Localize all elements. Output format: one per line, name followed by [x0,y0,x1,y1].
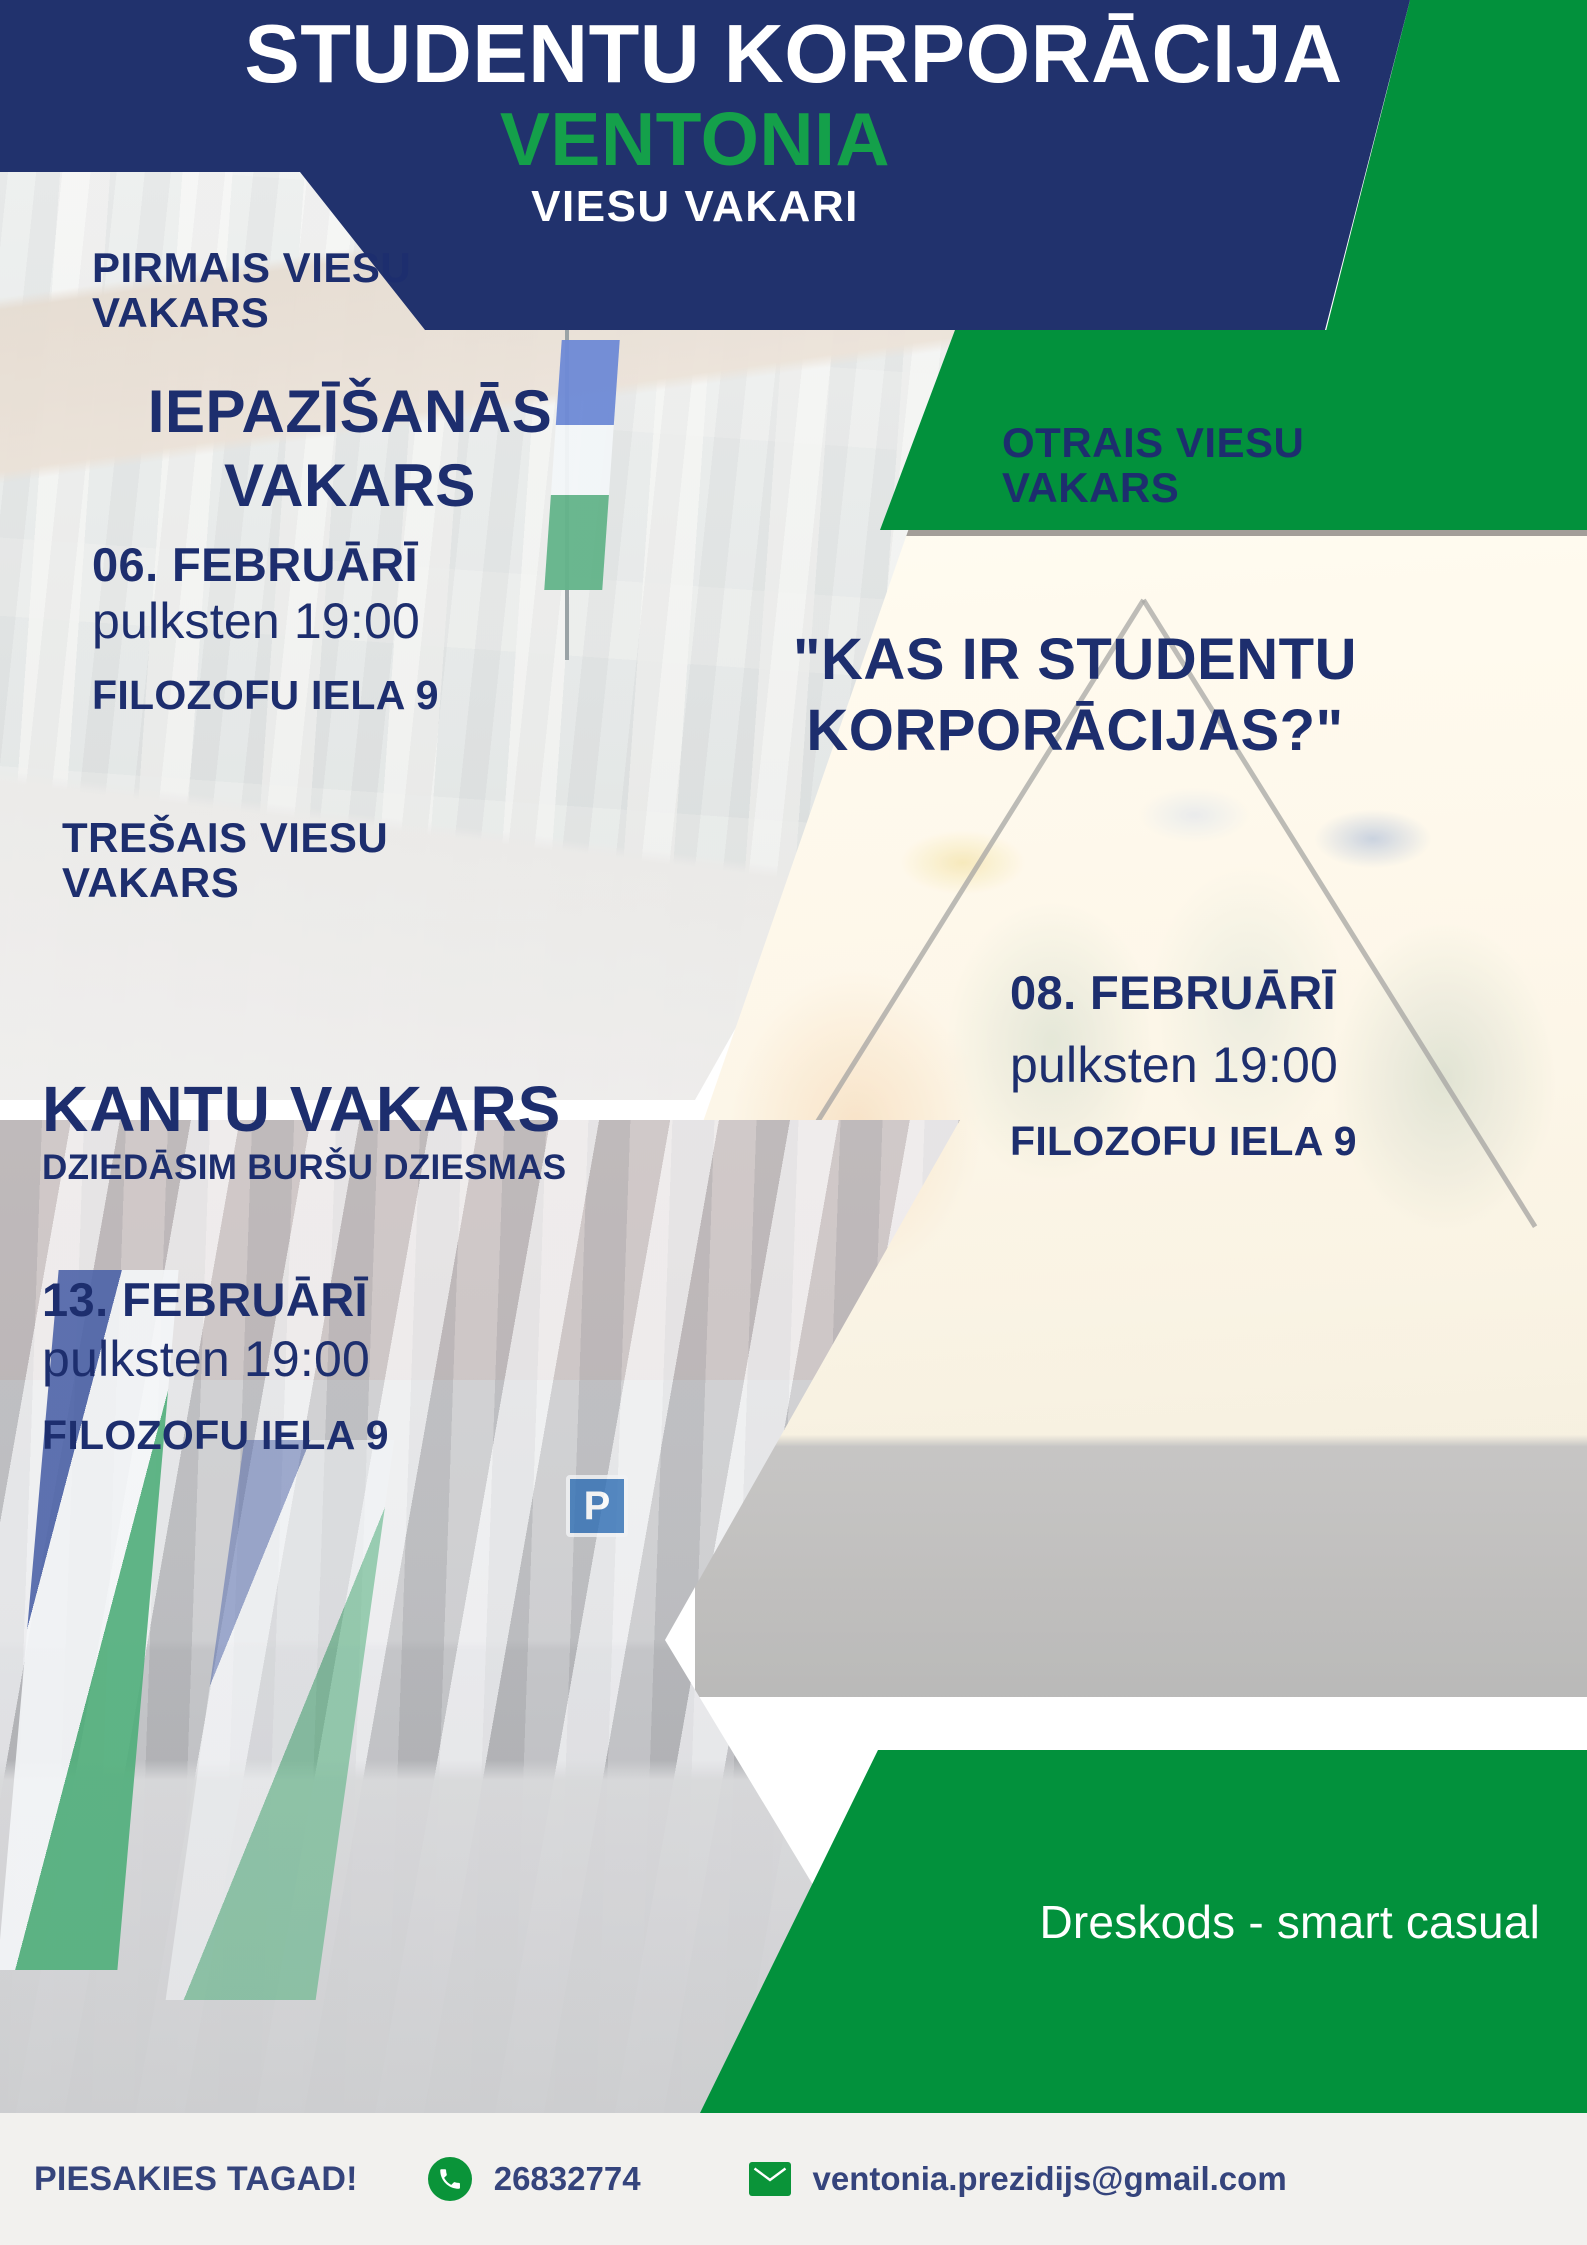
event-2-kicker: OTRAIS VIESU VAKARS [1002,420,1432,511]
event-2-time: pulksten 19:00 [1010,1036,1338,1094]
event-1-title: IEPAZĪŠANĀS VAKARS [40,375,660,524]
parking-sign-icon [566,1475,628,1537]
page-title: STUDENTU KORPORĀCIJA [0,12,1587,95]
phone-icon [428,2157,472,2201]
poster-root: STUDENTU KORPORĀCIJA VENTONIA VIESU VAKA… [0,0,1587,2245]
cta-label: PIESAKIES TAGAD! [34,2160,358,2199]
envelope-icon [749,2162,791,2196]
phone-contact[interactable]: 26832774 [428,2157,641,2201]
event-3-time: pulksten 19:00 [42,1330,370,1388]
event-3-subtitle: DZIEDĀSIM BURŠU DZIESMAS [42,1148,566,1188]
event-1-date: 06. FEBRUĀRĪ [92,537,418,592]
event-2-address: FILOZOFU IELA 9 [1010,1118,1357,1165]
email-address: ventonia.prezidijs@gmail.com [813,2160,1287,2198]
event-1-time: pulksten 19:00 [92,592,420,650]
footer-bar: PIESAKIES TAGAD! 26832774 ventonia.prezi… [0,2113,1587,2245]
event-3-title: KANTU VAKARS [42,1072,561,1146]
dresscode-note: Dreskods - smart casual [0,1895,1540,1949]
event-3-date: 13. FEBRUĀRĪ [42,1272,368,1327]
event-1-address: FILOZOFU IELA 9 [92,672,439,719]
phone-number: 26832774 [494,2160,641,2198]
event-2-title: "KAS IR STUDENTU KORPORĀCIJAS?" [790,625,1360,767]
event-3-address: FILOZOFU IELA 9 [42,1412,389,1459]
email-contact[interactable]: ventonia.prezidijs@gmail.com [749,2160,1287,2198]
event-3-kicker: TREŠAIS VIESU VAKARS [62,815,542,906]
organisation-name: VENTONIA [0,102,1390,177]
event-2-date: 08. FEBRUĀRĪ [1010,965,1336,1020]
event-1-kicker: PIRMAIS VIESU VAKARS [92,245,562,336]
page-subtitle: VIESU VAKARI [0,185,1390,229]
